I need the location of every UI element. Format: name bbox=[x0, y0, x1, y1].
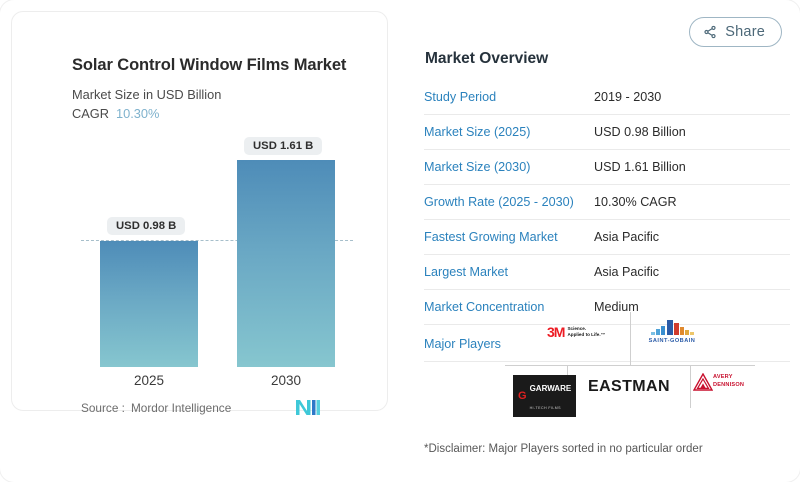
row-key: Growth Rate (2025 - 2030) bbox=[424, 185, 594, 220]
table-row: Market Size (2025) USD 0.98 Billion bbox=[424, 115, 790, 150]
share-button-label: Share bbox=[725, 24, 765, 40]
logo-garware-text: GARWARE HI-TECH FILMS bbox=[530, 378, 572, 414]
logo-3m-tagline: Science. Applied to Life.™ bbox=[567, 326, 605, 338]
row-key: Largest Market bbox=[424, 255, 594, 290]
share-button[interactable]: Share bbox=[689, 17, 782, 47]
logo-3m-tagline-line1: Science. bbox=[567, 326, 586, 331]
row-value: Asia Pacific bbox=[594, 220, 790, 255]
grid-divider-vertical bbox=[630, 312, 631, 365]
avery-dennison-triangle-icon bbox=[693, 373, 713, 391]
table-row: Market Size (2030) USD 1.61 Billion bbox=[424, 150, 790, 185]
cagr-value: 10.30% bbox=[116, 106, 159, 121]
source-line: Source : Mordor Intelligence bbox=[81, 401, 231, 415]
logo-avery-name-1: AVERY bbox=[713, 374, 733, 380]
market-overview-title: Market Overview bbox=[425, 50, 548, 68]
logo-garware-sub: HI-TECH FILMS bbox=[530, 406, 561, 410]
row-key: Market Size (2030) bbox=[424, 150, 594, 185]
logo-3m-tagline-line2: Applied to Life.™ bbox=[567, 332, 605, 337]
row-value: USD 0.98 Billion bbox=[594, 115, 790, 150]
row-key: Fastest Growing Market bbox=[424, 220, 594, 255]
reference-dashed-line bbox=[81, 240, 353, 241]
row-value: 2019 - 2030 bbox=[594, 80, 790, 115]
x-axis-tick-2025: 2025 bbox=[100, 373, 198, 388]
table-row: Fastest Growing Market Asia Pacific bbox=[424, 220, 790, 255]
logo-eastman: EASTMAN bbox=[567, 365, 691, 408]
bar-2025 bbox=[100, 241, 198, 367]
table-row: Growth Rate (2025 - 2030) 10.30% CAGR bbox=[424, 185, 790, 220]
major-players-logo-grid: 3M Science. Applied to Life.™ SAINT-GOBA… bbox=[505, 312, 755, 408]
row-key: Study Period bbox=[424, 80, 594, 115]
bar-2030 bbox=[237, 160, 335, 367]
cagr-line: CAGR 10.30% bbox=[72, 106, 159, 121]
cagr-label: CAGR bbox=[72, 106, 109, 121]
logo-eastman-name: EASTMAN bbox=[588, 378, 670, 396]
logo-3m: 3M Science. Applied to Life.™ bbox=[547, 324, 605, 340]
grid-divider-right bbox=[691, 365, 755, 366]
chart-subtitle: Market Size in USD Billion bbox=[72, 87, 221, 102]
row-value: 10.30% CAGR bbox=[594, 185, 790, 220]
logo-garware-mark: G bbox=[518, 391, 527, 402]
source-name: Mordor Intelligence bbox=[131, 401, 231, 415]
chart-title: Solar Control Window Films Market bbox=[72, 56, 346, 75]
table-row: Study Period 2019 - 2030 bbox=[424, 80, 790, 115]
disclaimer-text: *Disclaimer: Major Players sorted in no … bbox=[424, 443, 703, 455]
table-row: Largest Market Asia Pacific bbox=[424, 255, 790, 290]
logo-3m-mark: 3M bbox=[547, 324, 564, 340]
logo-avery-name-2: DENNISON bbox=[713, 382, 744, 388]
chart-card: Solar Control Window Films Market Market… bbox=[11, 11, 388, 411]
source-label: Source : bbox=[81, 401, 125, 415]
share-nodes-icon bbox=[703, 25, 717, 39]
bar-value-label-2025: USD 0.98 B bbox=[107, 217, 185, 235]
logo-saint-gobain: SAINT-GOBAIN bbox=[647, 317, 697, 344]
mordor-intelligence-logo-icon bbox=[295, 398, 321, 416]
row-value: USD 1.61 Billion bbox=[594, 150, 790, 185]
x-axis-tick-2030: 2030 bbox=[237, 373, 335, 388]
bar-value-label-2030: USD 1.61 B bbox=[244, 137, 322, 155]
row-key: Market Size (2025) bbox=[424, 115, 594, 150]
row-value: Asia Pacific bbox=[594, 255, 790, 290]
market-overview-page: Share Solar Control Window Films Market … bbox=[0, 0, 800, 482]
logo-saint-gobain-name: SAINT-GOBAIN bbox=[649, 338, 696, 344]
logo-avery-dennison: AVERY DENNISON bbox=[693, 373, 744, 391]
logo-avery-dennison-text: AVERY DENNISON bbox=[713, 374, 744, 389]
saint-gobain-skyline-icon bbox=[647, 317, 697, 337]
logo-garware-name: GARWARE bbox=[530, 384, 572, 393]
